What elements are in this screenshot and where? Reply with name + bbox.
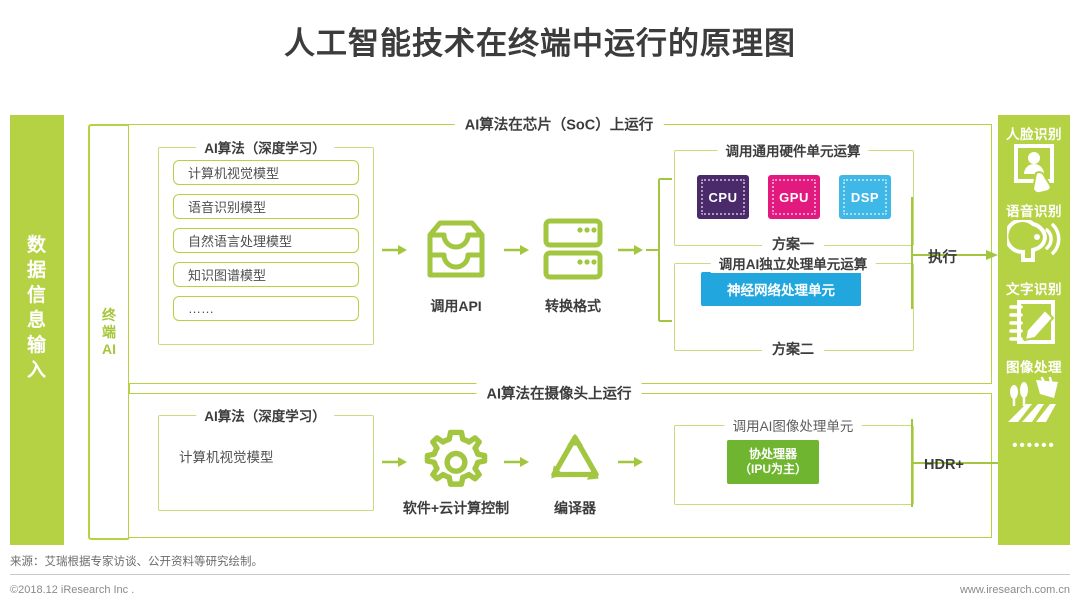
footer-divider — [10, 574, 1070, 575]
image-processing-icon — [998, 376, 1070, 424]
flow-label-software-cloud: 软件+云计算控制 — [403, 498, 509, 518]
arrow-icon — [618, 455, 644, 469]
output-label-image: 图像处理 — [998, 356, 1070, 376]
ipu-unit-line1: 协处理器 — [739, 447, 807, 462]
page-root: 人工智能技术在终端中运行的原理图 数据信息输入 终端AI AI算法在芯片（SoC… — [0, 0, 1080, 606]
flow-label-convert: 转换格式 — [545, 296, 601, 316]
page-title: 人工智能技术在终端中运行的原理图 — [0, 18, 1080, 63]
model-pill: 语音识别模型 — [173, 194, 359, 219]
soc-algo-group-caption: AI算法（深度学习） — [196, 137, 334, 157]
terminal-ai-label: 终端AI — [100, 307, 118, 358]
chip-cpu-label: CPU — [709, 190, 738, 205]
soc-algo-group: 计算机视觉模型 语音识别模型 自然语言处理模型 知识图谱模型 …… — [158, 147, 374, 345]
arrow-icon — [382, 243, 408, 257]
model-pill: 计算机视觉模型 — [173, 160, 359, 185]
diagram-canvas: 数据信息输入 终端AI AI算法在芯片（SoC）上运行 计算机视觉模型 语音识别… — [10, 115, 1070, 545]
arrow-icon — [504, 243, 530, 257]
text-recognition-icon — [998, 298, 1070, 348]
arrow-icon — [382, 455, 408, 469]
website-text: www.iresearch.com.cn — [960, 584, 1070, 596]
arrow-icon — [504, 455, 530, 469]
option-one-caption: 调用通用硬件单元运算 — [718, 140, 869, 160]
copyright-text: ©2018.12 iResearch Inc . — [10, 584, 134, 596]
model-pill: …… — [173, 296, 359, 321]
npu-unit: 神经网络处理单元 — [701, 272, 861, 306]
hdr-label: HDR+ — [924, 457, 964, 473]
execute-label: 执行 — [928, 246, 957, 267]
output-label-text: 文字识别 — [998, 278, 1070, 298]
chip-dsp-label: DSP — [851, 190, 879, 205]
api-tray-icon — [420, 213, 492, 285]
option-two-caption: 调用AI独立处理单元运算 — [711, 253, 876, 273]
option-one-group: CPU GPU DSP — [674, 150, 914, 246]
chip-cpu: CPU — [697, 175, 749, 219]
model-pill: 自然语言处理模型 — [173, 228, 359, 253]
input-bar-label: 数据信息输入 — [24, 233, 50, 383]
source-note: 来源：艾瑞根据专家访谈、公开资料等研究绘制。 — [10, 553, 263, 569]
ipu-unit: 协处理器 （IPU为主） — [727, 440, 819, 484]
terminal-ai-column: 终端AI — [88, 124, 130, 540]
server-stack-icon — [540, 215, 606, 283]
option-two-footer: 方案二 — [762, 339, 824, 359]
flow-label-compiler: 编译器 — [554, 498, 596, 518]
output-label-voice: 语音识别 — [998, 200, 1070, 220]
face-recognition-icon — [998, 143, 1070, 193]
npu-unit-label: 神经网络处理单元 — [727, 279, 835, 299]
recycle-icon — [542, 427, 608, 493]
output-label-face: 人脸识别 — [998, 123, 1070, 143]
branch-bracket-icon — [646, 149, 672, 349]
image-unit-caption: 调用AI图像处理单元 — [725, 415, 862, 435]
camera-algo-group-caption: AI算法（深度学习） — [196, 405, 334, 425]
voice-recognition-icon — [998, 220, 1070, 264]
flow-label-api: 调用API — [430, 296, 481, 316]
ipu-unit-line2: （IPU为主） — [739, 462, 807, 477]
soc-panel-caption: AI算法在芯片（SoC）上运行 — [455, 114, 664, 135]
option-two-group: 神经网络处理单元 — [674, 263, 914, 351]
camera-panel-caption: AI算法在摄像头上运行 — [477, 383, 642, 404]
chip-gpu-label: GPU — [779, 190, 809, 205]
camera-algo-group: 计算机视觉模型 — [158, 415, 374, 511]
option-one-footer: 方案一 — [762, 234, 824, 254]
arrow-icon — [618, 243, 644, 257]
gear-icon — [422, 427, 490, 495]
chip-gpu: GPU — [768, 175, 820, 219]
chip-dsp: DSP — [839, 175, 891, 219]
camera-model-label: 计算机视觉模型 — [179, 446, 274, 466]
output-more-dots: •••••• — [998, 437, 1070, 454]
image-unit-group: 协处理器 （IPU为主） — [674, 425, 914, 505]
model-pill: 知识图谱模型 — [173, 262, 359, 287]
